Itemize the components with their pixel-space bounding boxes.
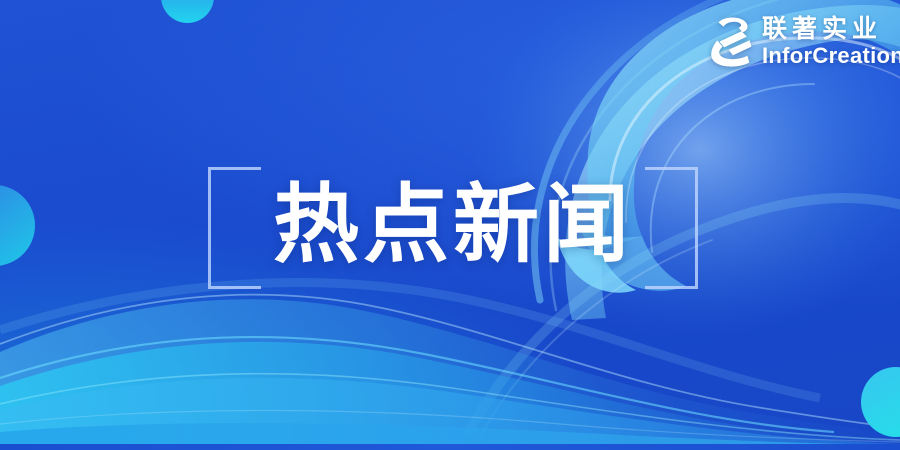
inforcreation-logo-mark-icon [708,16,754,68]
brand-name-cn: 联著实业 [762,17,900,42]
page-title: 热点新闻 [208,160,698,290]
bottom-strip [0,444,900,450]
brand-name-en: InforCreation [762,45,900,67]
headline-block: 热点新闻 [208,160,698,290]
news-banner: 热点新闻 联著实业 InforCreation [0,0,900,450]
brand-logo-text: 联著实业 InforCreation [762,17,900,67]
brand-logo: 联著实业 InforCreation [708,16,900,68]
